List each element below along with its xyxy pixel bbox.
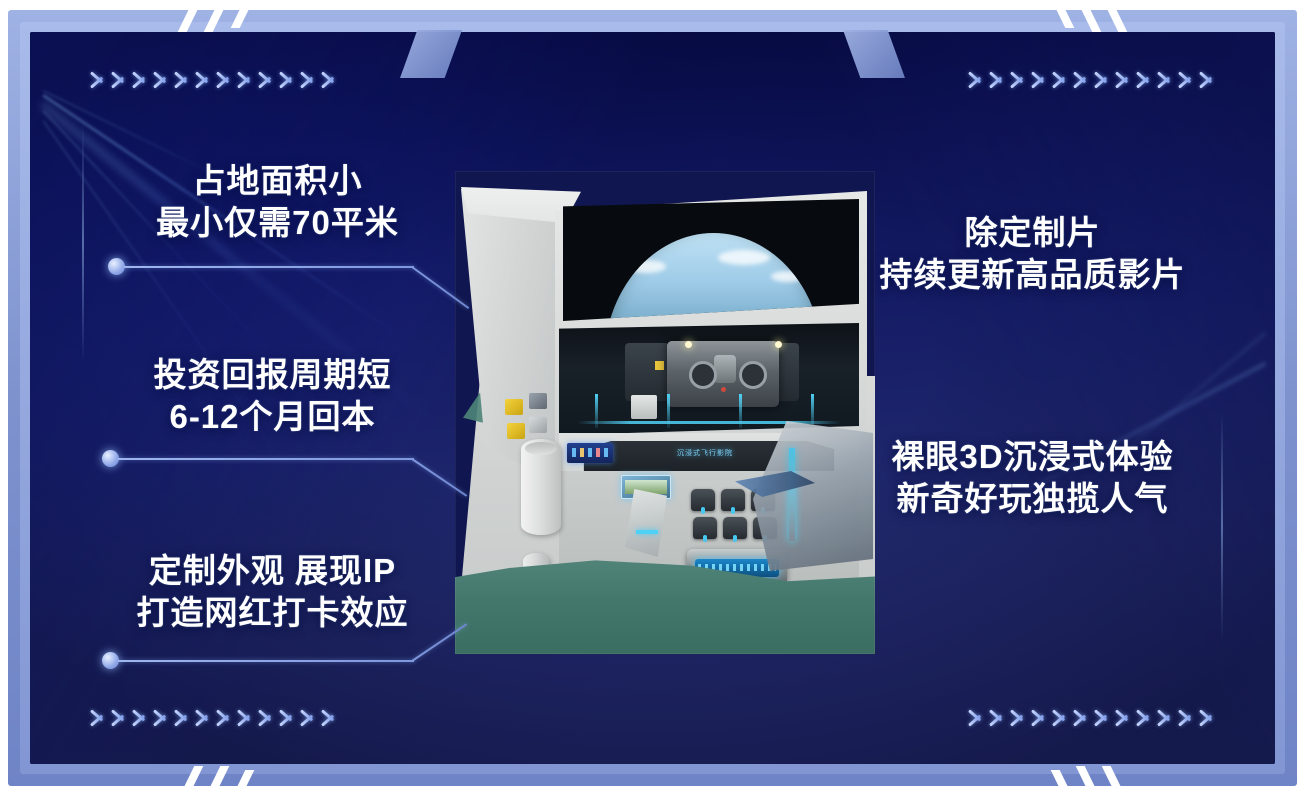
callout-left-2-line1: 投资回报周期短 xyxy=(154,356,392,393)
render-image-edge xyxy=(455,171,875,654)
callout-left-1-line2: 最小仅需70平米 xyxy=(90,202,465,244)
poster-root: 沉浸式飞行影院 xyxy=(0,0,1305,798)
callout-right-2: 裸眼3D沉浸式体验 新奇好玩独揽人气 xyxy=(845,436,1220,520)
poster-canvas: 沉浸式飞行影院 xyxy=(30,32,1275,764)
callout-left-2-line2: 6-12个月回本 xyxy=(85,396,460,438)
callout-right-2-line2: 新奇好玩独揽人气 xyxy=(845,478,1220,520)
venue-render-scene: 沉浸式飞行影院 xyxy=(455,171,875,654)
callout-left-3-line1: 定制外观 展现IP xyxy=(149,552,396,589)
callout-left-1-line1: 占地面积小 xyxy=(193,162,363,199)
callout-left-3: 定制外观 展现IP 打造网红打卡效应 xyxy=(85,550,460,634)
callout-right-1-line1: 除定制片 xyxy=(965,214,1101,251)
callout-right-2-line1: 裸眼3D沉浸式体验 xyxy=(891,438,1173,475)
callout-right-1: 除定制片 持续更新高品质影片 xyxy=(845,212,1220,296)
callout-left-2: 投资回报周期短 6-12个月回本 xyxy=(85,354,460,438)
callout-left-1: 占地面积小 最小仅需70平米 xyxy=(90,160,465,244)
callout-right-1-line2: 持续更新高品质影片 xyxy=(845,254,1220,296)
venue-render-image: 沉浸式飞行影院 xyxy=(455,171,875,654)
callout-left-3-line2: 打造网红打卡效应 xyxy=(85,592,460,634)
